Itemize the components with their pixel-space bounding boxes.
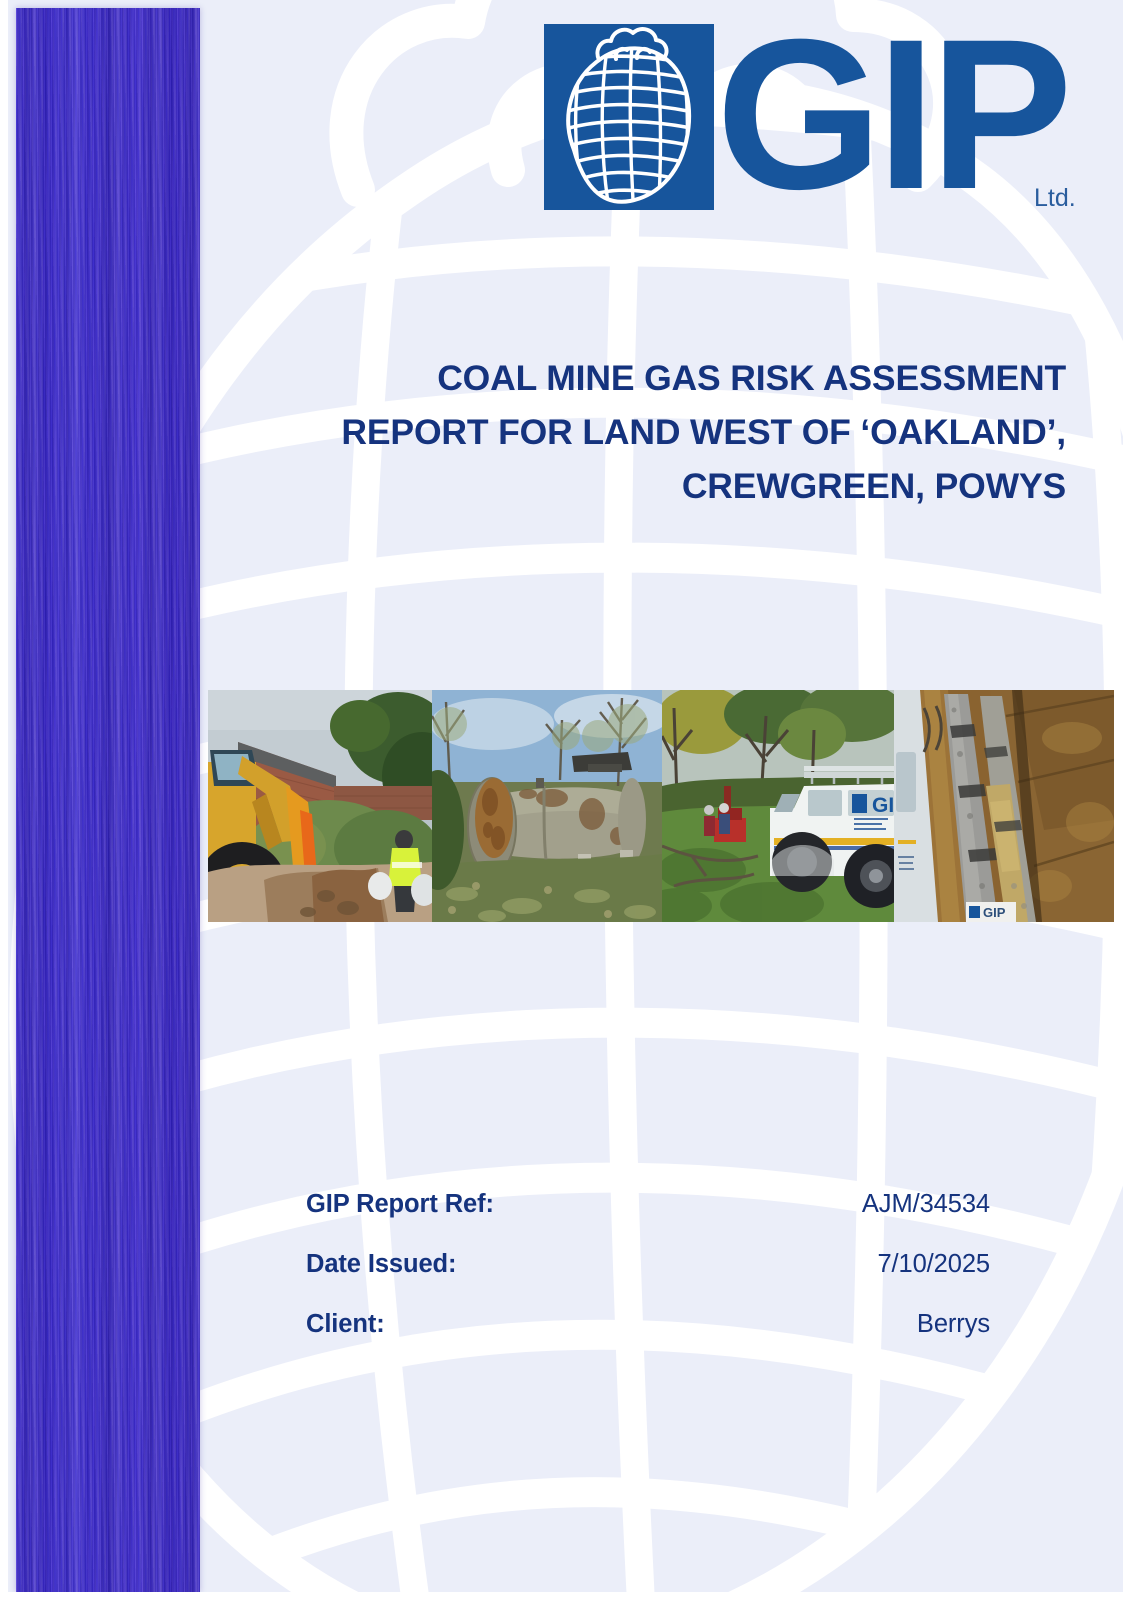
report-metadata: GIP Report Ref: AJM/34534 Date Issued: 7… — [306, 1190, 990, 1370]
client-value: Berrys — [917, 1310, 990, 1339]
photo-borehole-casing-pipes: GIP — [894, 690, 1114, 922]
metadata-row-client: Client: Berrys — [306, 1310, 990, 1370]
page-title-line-1: COAL MINE GAS RISK ASSESSMENT — [298, 352, 1066, 406]
report-ref-value: AJM/34534 — [862, 1190, 990, 1219]
gip-logo: GIP Ltd. — [544, 24, 1084, 224]
svg-text:GIP: GIP — [872, 794, 894, 817]
photo-gip-land-rover: GIP — [662, 690, 894, 922]
sidebar-fiber-texture — [16, 8, 200, 1592]
gip-wordmark: GIP — [716, 8, 1067, 222]
page-canvas: GIP Ltd. COAL MINE GAS RISK ASSESSMENT R… — [8, 0, 1123, 1592]
photo-excavator-trial-pit — [208, 690, 432, 922]
client-label: Client: — [306, 1310, 385, 1339]
metadata-row-date-issued: Date Issued: 7/10/2025 — [306, 1250, 990, 1310]
report-cover-page: GIP Ltd. COAL MINE GAS RISK ASSESSMENT R… — [0, 0, 1131, 1600]
page-title-line-2: REPORT FOR LAND WEST OF ‘OAKLAND’, — [298, 406, 1066, 460]
date-issued-label: Date Issued: — [306, 1250, 456, 1279]
page-title: COAL MINE GAS RISK ASSESSMENT REPORT FOR… — [298, 352, 1066, 514]
svg-text:GIP: GIP — [983, 905, 1006, 920]
gip-balloon-globe-logo-icon — [544, 24, 714, 210]
photo-storage-tank — [432, 690, 662, 922]
gip-ltd-suffix: Ltd. — [1034, 184, 1076, 213]
cover-accent-sidebar — [16, 8, 200, 1592]
report-ref-label: GIP Report Ref: — [306, 1190, 494, 1219]
date-issued-value: 7/10/2025 — [877, 1250, 990, 1279]
metadata-row-report-ref: GIP Report Ref: AJM/34534 — [306, 1190, 990, 1250]
cover-photo-strip: GIP — [208, 690, 1114, 922]
page-title-line-3: CREWGREEN, POWYS — [298, 460, 1066, 514]
